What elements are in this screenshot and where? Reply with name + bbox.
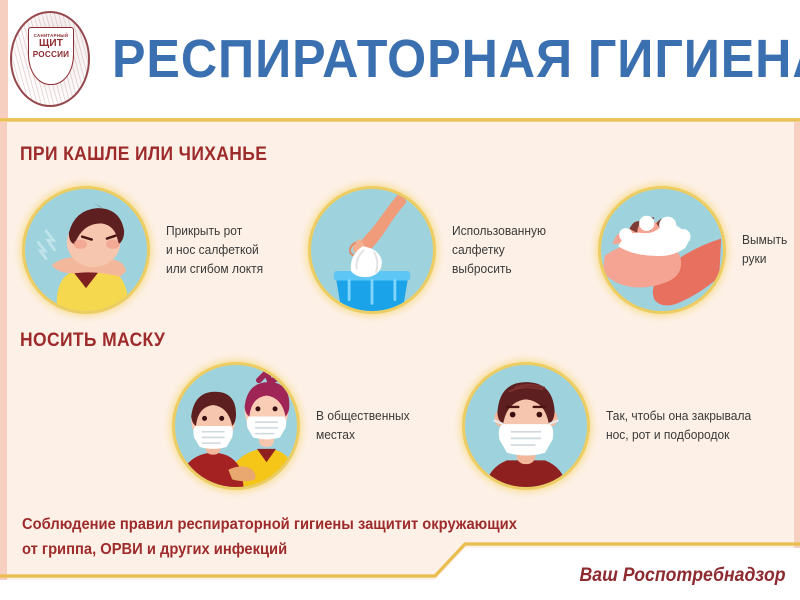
person-coughing-into-elbow-icon: [22, 186, 150, 314]
item-caption: Использованную салфетку выбросить: [452, 222, 546, 279]
logo-line-shield: ЩИТ: [39, 38, 63, 50]
infographic-poster: САНИТАРНЫЙ ЩИТ РОССИИ РЕСПИРАТОРНАЯ ГИГИ…: [0, 0, 800, 600]
item-cover-face: Так, чтобы она закрывала нос, рот и подб…: [462, 362, 757, 490]
poster-header: САНИТАРНЫЙ ЩИТ РОССИИ РЕСПИРАТОРНАЯ ГИГИ…: [0, 0, 800, 118]
header-gold-divider: [0, 118, 800, 122]
coughing-illustration: [25, 189, 147, 311]
washing-hands-with-soap-icon: [598, 186, 726, 314]
item-caption: Так, чтобы она закрывала нос, рот и подб…: [606, 407, 751, 445]
hand-dropping-tissue-in-bin-icon: [308, 186, 436, 314]
section-heading-cough-or-sneeze: ПРИ КАШЛЕ ИЛИ ЧИХАНЬЕ: [20, 144, 267, 166]
handwashing-illustration: [601, 189, 723, 311]
two-people-wearing-masks-icon: [172, 362, 300, 490]
item-caption: В общественных местах: [316, 407, 410, 445]
item-discard-tissue: Использованную салфетку выбросить: [308, 186, 550, 314]
item-wash-hands: Вымыть руки: [598, 186, 800, 314]
masked-man-illustration: [465, 365, 587, 487]
tissue-disposal-illustration: [311, 189, 433, 311]
two-masked-people-illustration: [175, 365, 297, 487]
footer-message: Соблюдение правил респираторной гигиены …: [22, 512, 517, 562]
item-public-places: В общественных местах: [172, 362, 414, 490]
item-cover-mouth: Прикрыть рот и нос салфеткой или сгибом …: [22, 186, 267, 314]
section-heading-wear-mask: НОСИТЬ МАСКУ: [20, 330, 165, 352]
logo-line-russia: РОССИИ: [33, 50, 70, 60]
item-caption: Прикрыть рот и нос салфеткой или сгибом …: [166, 222, 263, 279]
footer-signature: Ваш Роспотребнадзор: [580, 565, 786, 587]
item-caption: Вымыть руки: [742, 231, 798, 269]
man-wearing-mask-correctly-icon: [462, 362, 590, 490]
shield-icon: САНИТАРНЫЙ ЩИТ РОССИИ: [28, 27, 74, 85]
page-title: РЕСПИРАТОРНАЯ ГИГИЕНА: [112, 31, 800, 87]
sanitary-shield-logo: САНИТАРНЫЙ ЩИТ РОССИИ: [2, 7, 98, 111]
